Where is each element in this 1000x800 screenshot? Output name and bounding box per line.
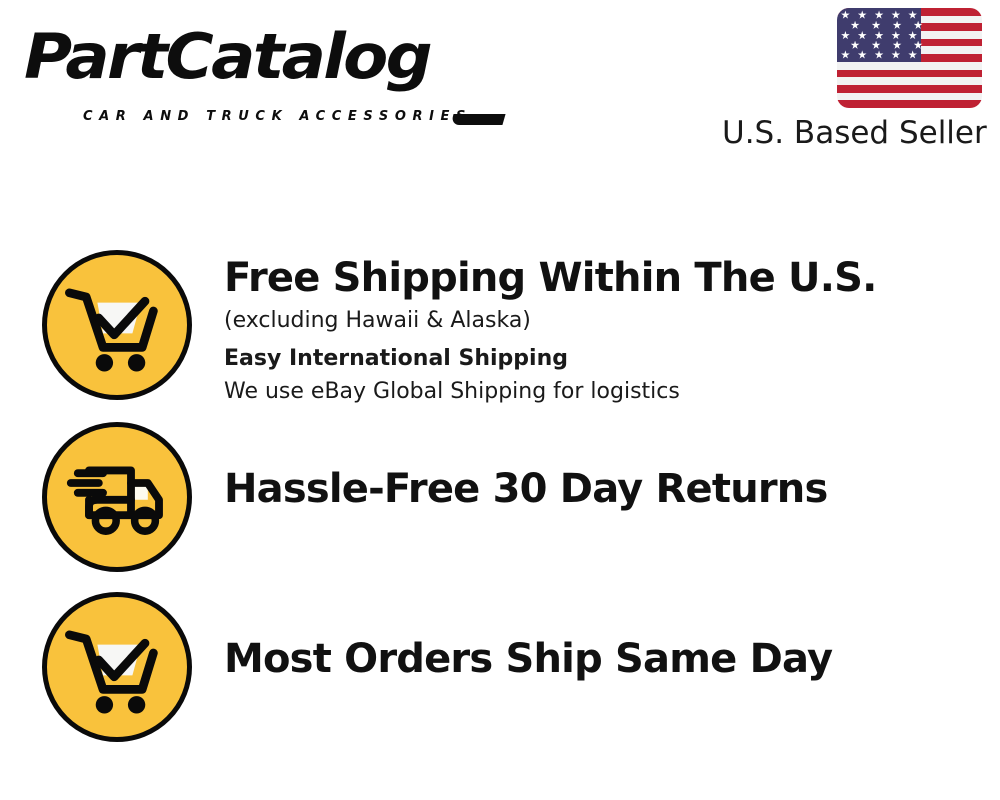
feature-title: Hassle-Free 30 Day Returns <box>224 465 1000 513</box>
feature-title: Most Orders Ship Same Day <box>224 635 1000 683</box>
shopping-cart-check-icon <box>42 250 192 400</box>
feature-text-block: Free Shipping Within The U.S. (excluding… <box>192 250 1000 408</box>
feature-subtitle: (excluding Hawaii & Alaska) <box>224 304 1000 338</box>
flag-star-row <box>837 31 921 41</box>
feature-subtitle: We use eBay Global Shipping for logistic… <box>224 376 1000 408</box>
feature-subtitle: Easy International Shipping <box>224 344 1000 374</box>
feature-title: Free Shipping Within The U.S. <box>224 254 1000 302</box>
delivery-truck-icon <box>42 422 192 572</box>
flag-star-row <box>837 20 936 30</box>
seller-badge: U.S. Based Seller <box>722 8 982 152</box>
flag-star-row <box>837 50 921 60</box>
feature-item: Most Orders Ship Same Day <box>0 592 1000 742</box>
flag-stripe <box>837 85 982 93</box>
feature-item: Hassle-Free 30 Day Returns <box>0 422 1000 572</box>
logo-swoosh-accent <box>450 114 505 125</box>
flag-stripe <box>837 70 982 78</box>
us-flag-icon <box>837 8 982 108</box>
seller-badge-label: U.S. Based Seller <box>722 114 982 152</box>
brand-tagline: CAR AND TRUCK ACCESSORIES <box>83 110 472 124</box>
brand-wordmark: PartCatalog <box>24 22 430 92</box>
feature-item: Free Shipping Within The U.S. (excluding… <box>0 250 1000 408</box>
feature-text-block: Most Orders Ship Same Day <box>192 592 1000 683</box>
flag-star-row <box>837 10 921 20</box>
flag-star-row <box>837 40 936 50</box>
shopping-cart-check-icon <box>42 592 192 742</box>
feature-text-block: Hassle-Free 30 Day Returns <box>192 422 1000 513</box>
page-header: PartCatalog CAR AND TRUCK ACCESSORIES <box>0 0 1000 175</box>
brand-logo[interactable]: PartCatalog CAR AND TRUCK ACCESSORIES <box>24 22 494 114</box>
flag-canton <box>837 8 921 62</box>
flag-stripe <box>837 100 982 108</box>
